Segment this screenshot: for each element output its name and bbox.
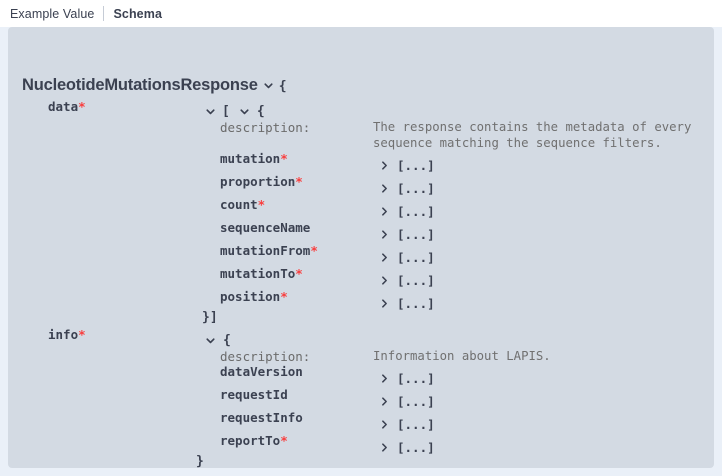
page-title: NucleotideMutationsResponse <box>22 76 258 94</box>
chevron-right-icon[interactable] <box>379 396 390 407</box>
required-marker: * <box>280 433 288 448</box>
property-label-data: data <box>48 99 78 114</box>
collapsed-value: [...] <box>397 181 435 196</box>
chevron-right-icon[interactable] <box>379 419 390 430</box>
chevron-down-icon-data-object[interactable] <box>238 105 251 118</box>
field-name-requestinfo: requestInfo <box>220 410 303 425</box>
data-array-open-row: [ { <box>204 104 265 119</box>
info-open-brace: { <box>223 333 231 348</box>
data-description-text: The response contains the metadata of ev… <box>373 120 714 151</box>
chevron-right-icon[interactable] <box>379 442 390 453</box>
expand-row-mutationto[interactable]: [...] <box>379 273 435 288</box>
expand-row-mutationfrom[interactable]: [...] <box>379 250 435 265</box>
collapsed-value: [...] <box>397 227 435 242</box>
collapsed-value: [...] <box>397 296 435 311</box>
expand-row-count[interactable]: [...] <box>379 204 435 219</box>
required-marker-info: * <box>78 327 86 342</box>
chevron-right-icon[interactable] <box>379 252 390 263</box>
collapsed-value: [...] <box>397 273 435 288</box>
required-marker: * <box>280 289 288 304</box>
field-name-dataversion: dataVersion <box>220 364 303 379</box>
field-name-mutation: mutation* <box>220 151 288 166</box>
schema-tab-bar: Example Value Schema <box>0 0 722 27</box>
expand-row-position[interactable]: [...] <box>379 296 435 311</box>
property-name-data: data* <box>48 99 86 114</box>
field-name-count: count* <box>220 197 265 212</box>
chevron-right-icon[interactable] <box>379 275 390 286</box>
collapsed-value: [...] <box>397 371 435 386</box>
field-name-position: position* <box>220 289 288 304</box>
required-marker: * <box>310 243 318 258</box>
schema-shell: NucleotideMutationsResponse { data* [ <box>0 27 722 476</box>
tab-divider <box>103 6 104 21</box>
schema-panel: NucleotideMutationsResponse { data* [ <box>8 27 714 468</box>
info-object-open-row: { <box>204 333 231 348</box>
required-marker: * <box>258 197 266 212</box>
field-name-proportion: proportion* <box>220 174 303 189</box>
expand-row-reportto[interactable]: [...] <box>379 440 435 455</box>
expand-row-requestid[interactable]: [...] <box>379 394 435 409</box>
chevron-right-icon[interactable] <box>379 160 390 171</box>
tab-example-value[interactable]: Example Value <box>10 7 94 21</box>
required-marker-data: * <box>78 99 86 114</box>
model-tree: NucleotideMutationsResponse { data* [ <box>8 27 714 468</box>
model-open-brace: { <box>279 79 287 94</box>
field-name-mutationfrom: mutationFrom* <box>220 243 318 258</box>
tab-schema[interactable]: Schema <box>113 7 162 21</box>
property-label-info: info <box>48 327 78 342</box>
field-name-reportto: reportTo* <box>220 433 288 448</box>
expand-row-dataversion[interactable]: [...] <box>379 371 435 386</box>
chevron-right-icon[interactable] <box>379 183 390 194</box>
required-marker: * <box>280 151 288 166</box>
property-name-info: info* <box>48 327 86 342</box>
field-name-sequencename: sequenceName <box>220 220 310 235</box>
expand-row-mutation[interactable]: [...] <box>379 158 435 173</box>
chevron-right-icon[interactable] <box>379 298 390 309</box>
collapsed-value: [...] <box>397 204 435 219</box>
chevron-down-icon-data-array[interactable] <box>204 105 217 118</box>
chevron-down-icon-info-object[interactable] <box>204 334 217 347</box>
expand-row-proportion[interactable]: [...] <box>379 181 435 196</box>
expand-row-requestinfo[interactable]: [...] <box>379 417 435 432</box>
collapsed-value: [...] <box>397 417 435 432</box>
chevron-right-icon[interactable] <box>379 373 390 384</box>
data-description-label: description: <box>220 120 310 135</box>
field-name-mutationto: mutationTo* <box>220 266 303 281</box>
info-close-brace: } <box>196 454 204 468</box>
chevron-down-icon-model[interactable] <box>262 79 275 92</box>
expand-row-sequencename[interactable]: [...] <box>379 227 435 242</box>
chevron-right-icon[interactable] <box>379 206 390 217</box>
info-description-text: Information about LAPIS. <box>373 349 551 365</box>
collapsed-value: [...] <box>397 158 435 173</box>
data-close-tokens: }] <box>202 310 218 325</box>
data-open-brace: { <box>257 104 265 119</box>
collapsed-value: [...] <box>397 250 435 265</box>
chevron-right-icon[interactable] <box>379 229 390 240</box>
data-open-bracket: [ <box>222 104 230 119</box>
collapsed-value: [...] <box>397 394 435 409</box>
required-marker: * <box>295 266 303 281</box>
info-description-label: description: <box>220 349 310 364</box>
required-marker: * <box>295 174 303 189</box>
field-name-requestid: requestId <box>220 387 288 402</box>
collapsed-value: [...] <box>397 440 435 455</box>
model-title-row: NucleotideMutationsResponse { <box>22 76 287 95</box>
